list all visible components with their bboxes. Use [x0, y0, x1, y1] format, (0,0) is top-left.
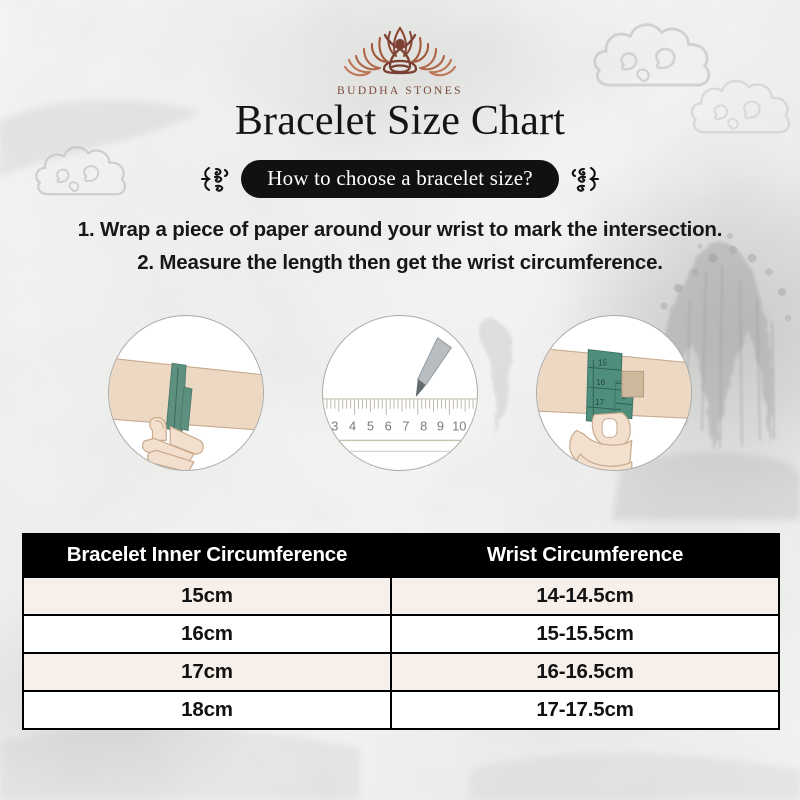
scroll-flourish-left-icon [198, 162, 232, 196]
svg-text:3: 3 [331, 419, 338, 434]
table-row: 18cm 17-17.5cm [23, 691, 779, 729]
svg-text:10: 10 [452, 419, 466, 434]
table-row: 16cm 15-15.5cm [23, 615, 779, 653]
illustration-row: 34 56 78 910 11 [0, 315, 800, 471]
instruction-step-2: 2. Measure the length then get the wrist… [0, 246, 800, 279]
svg-text:9: 9 [437, 419, 444, 434]
lotus-meditation-icon [332, 22, 468, 84]
brand-logo: BUDDHA STONES [0, 22, 800, 97]
table-header-bracelet: Bracelet Inner Circumference [23, 533, 391, 577]
table-row: 17cm 16-16.5cm [23, 653, 779, 691]
svg-text:4: 4 [349, 419, 356, 434]
illustration-measure-ruler: 34 56 78 910 11 [322, 315, 478, 471]
table-header-row: Bracelet Inner Circumference Wrist Circu… [23, 533, 779, 577]
wrist-with-paper-strip-icon [109, 316, 263, 470]
svg-text:15: 15 [598, 358, 607, 367]
cell-wrist-circumference: 14-14.5cm [391, 577, 779, 615]
cell-bracelet-circumference: 17cm [23, 653, 391, 691]
cell-bracelet-circumference: 16cm [23, 615, 391, 653]
ruler-and-pencil-icon: 34 56 78 910 11 [323, 316, 477, 470]
instruction-steps: 1. Wrap a piece of paper around your wri… [0, 213, 800, 279]
cell-wrist-circumference: 16-16.5cm [391, 653, 779, 691]
instruction-step-1: 1. Wrap a piece of paper around your wri… [0, 213, 800, 246]
cell-wrist-circumference: 17-17.5cm [391, 691, 779, 729]
table-row: 15cm 14-14.5cm [23, 577, 779, 615]
svg-text:6: 6 [385, 419, 392, 434]
page-title: Bracelet Size Chart [0, 97, 800, 145]
svg-text:17: 17 [595, 398, 604, 407]
illustration-read-tape: 15 16 17 2 [536, 315, 692, 471]
svg-text:11: 11 [470, 419, 477, 434]
svg-text:8: 8 [420, 419, 427, 434]
cell-wrist-circumference: 15-15.5cm [391, 615, 779, 653]
svg-text:5: 5 [367, 419, 374, 434]
cell-bracelet-circumference: 15cm [23, 577, 391, 615]
tape-measure-on-wrist-icon: 15 16 17 2 [537, 316, 691, 470]
size-chart-table: Bracelet Inner Circumference Wrist Circu… [22, 533, 780, 730]
brand-name: BUDDHA STONES [0, 85, 800, 97]
banner-question-text: How to choose a bracelet size? [241, 160, 558, 198]
question-banner: How to choose a bracelet size? [0, 160, 800, 198]
cell-bracelet-circumference: 18cm [23, 691, 391, 729]
svg-text:16: 16 [596, 378, 605, 387]
svg-text:7: 7 [402, 419, 409, 434]
scroll-flourish-right-icon [568, 162, 602, 196]
table-header-wrist: Wrist Circumference [391, 533, 779, 577]
illustration-wrap-paper [108, 315, 264, 471]
